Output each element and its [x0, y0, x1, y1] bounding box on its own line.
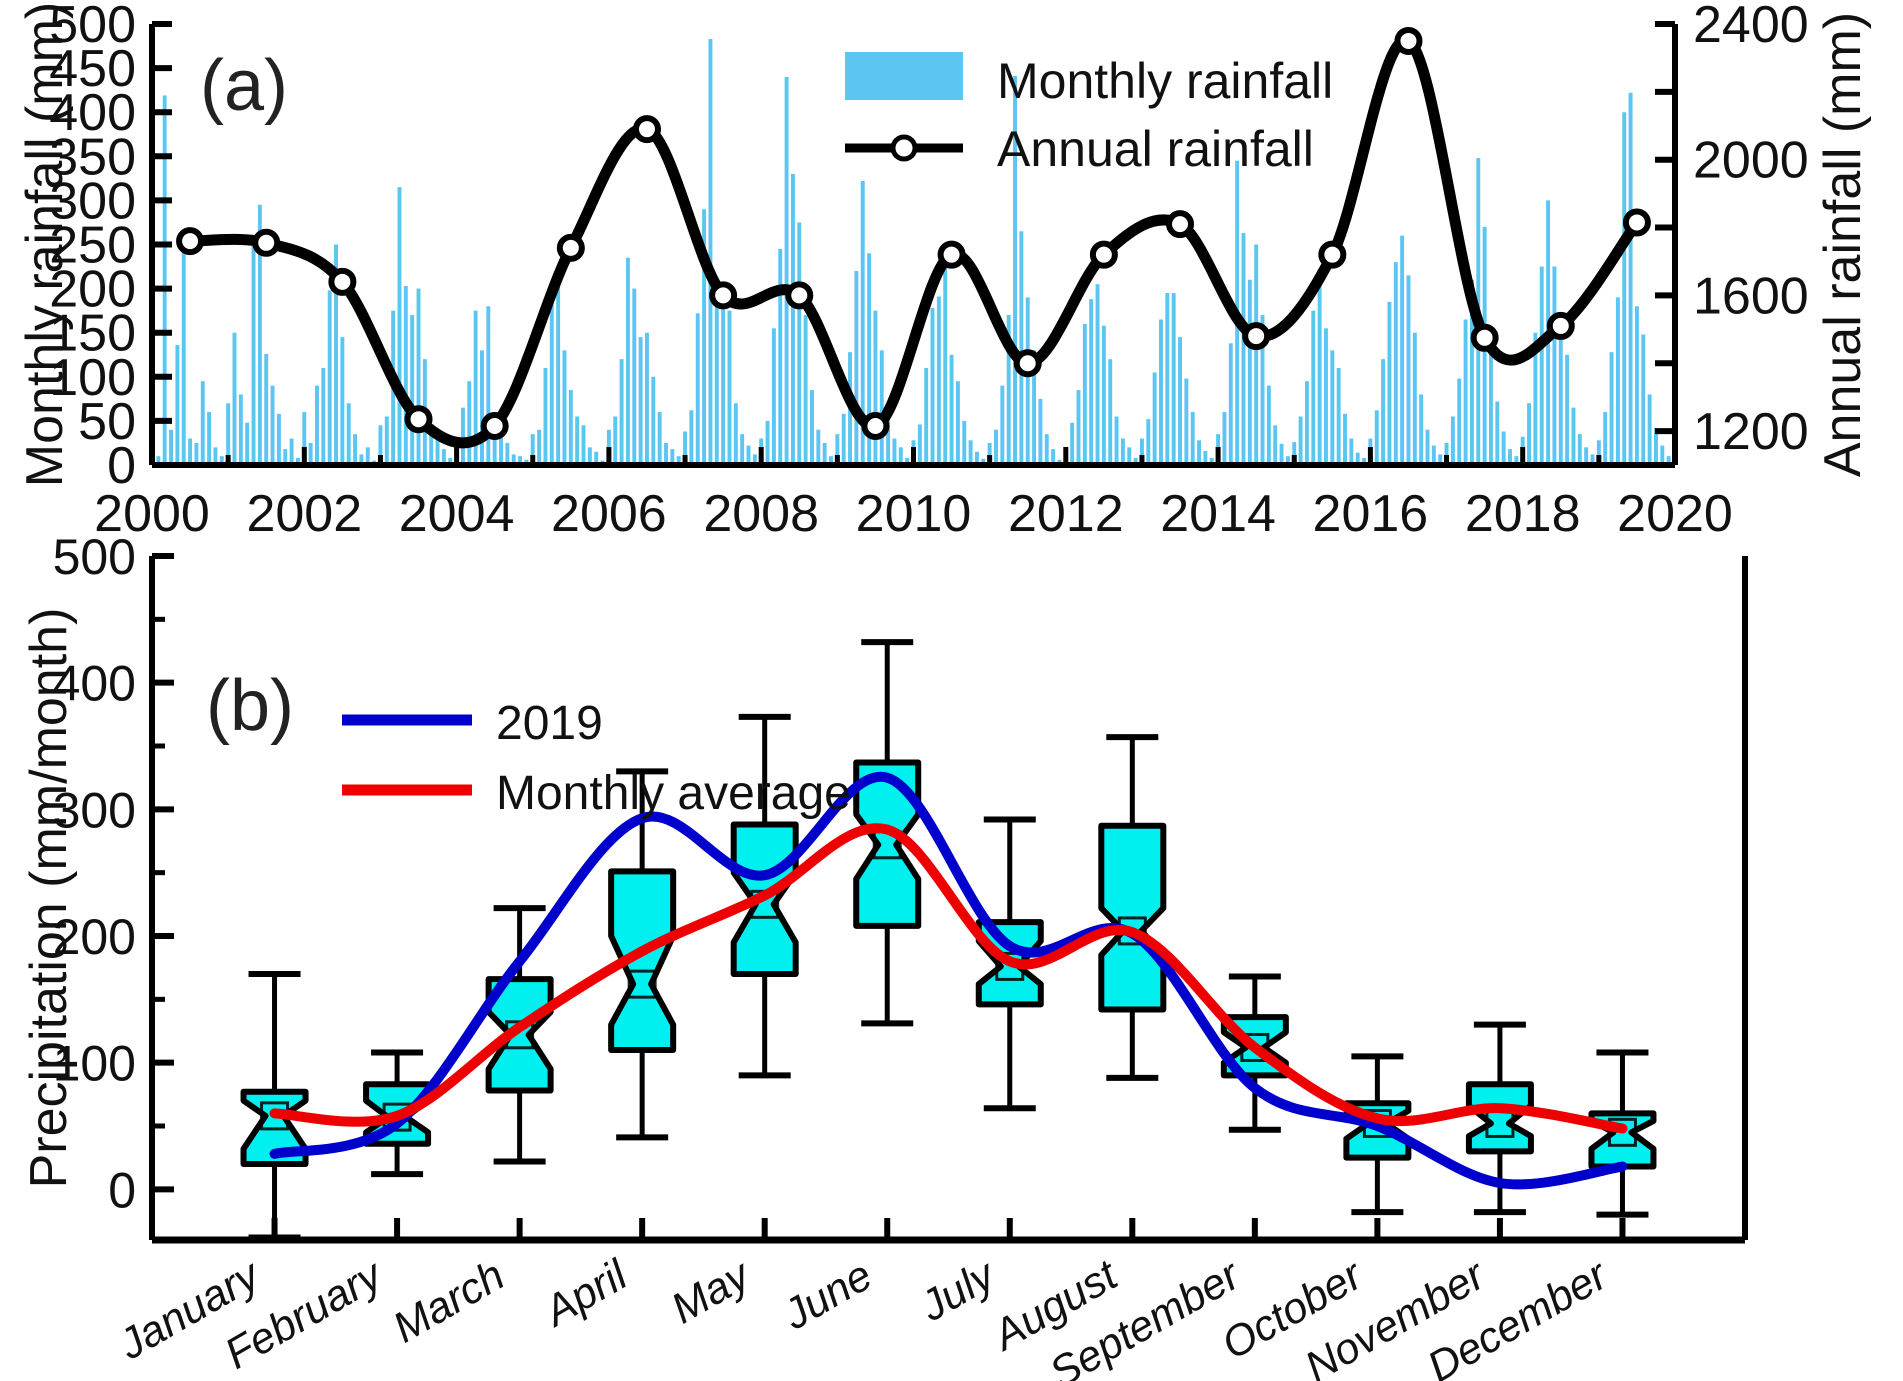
bar	[347, 403, 351, 465]
legend-label-annual-rainfall: Annual rainfall	[997, 121, 1314, 177]
bar	[169, 430, 173, 465]
bar	[417, 289, 421, 465]
panel-a-y2-ticklabel: 2000	[1693, 132, 1809, 190]
bar	[1146, 419, 1150, 465]
bar	[708, 39, 712, 465]
bar	[575, 416, 579, 465]
bar	[1165, 293, 1169, 465]
bar	[188, 439, 192, 465]
bar	[569, 390, 573, 465]
bar	[1280, 444, 1284, 465]
bar	[1184, 379, 1188, 465]
bar	[842, 414, 846, 465]
annual-rainfall-point	[1093, 244, 1115, 266]
bar	[1222, 412, 1226, 465]
bar	[696, 313, 700, 465]
bar	[1248, 280, 1252, 465]
bar	[892, 439, 896, 465]
bar	[1045, 434, 1049, 465]
bar	[1387, 302, 1391, 465]
annual-rainfall-point	[331, 271, 353, 293]
annual-rainfall-point	[1550, 315, 1572, 337]
bar	[810, 390, 814, 465]
panel-a-x-ticklabel: 2008	[703, 485, 819, 543]
bar	[1273, 425, 1277, 465]
bar	[233, 333, 237, 465]
bar	[943, 262, 947, 465]
bar	[1337, 368, 1341, 465]
bar	[353, 434, 357, 465]
bar	[1565, 355, 1569, 465]
bar	[994, 430, 998, 465]
annual-rainfall-point	[1245, 325, 1267, 347]
bar	[436, 439, 440, 465]
bar	[1495, 402, 1499, 466]
bar	[1267, 386, 1271, 465]
bar	[797, 222, 801, 465]
bar	[1552, 267, 1556, 465]
bar	[264, 354, 268, 465]
bar	[873, 311, 877, 465]
annual-rainfall-point	[941, 244, 963, 266]
bar	[1102, 326, 1106, 465]
annual-rainfall-point	[712, 284, 734, 306]
bar	[1108, 359, 1112, 465]
bar	[1426, 430, 1430, 465]
bar	[1000, 386, 1004, 465]
bar	[1299, 416, 1303, 465]
bar	[404, 286, 408, 465]
panel-a-x-ticklabel: 2006	[551, 485, 667, 543]
bar	[1089, 299, 1093, 465]
panel-a-x-ticklabel: 2020	[1617, 485, 1733, 543]
bar	[271, 386, 275, 465]
bar	[804, 315, 808, 465]
bar	[1172, 293, 1176, 465]
bar	[245, 423, 249, 465]
legend-swatch-monthly-rainfall	[845, 52, 963, 100]
annual-rainfall-point	[408, 408, 430, 430]
bar	[277, 414, 281, 465]
bar	[816, 430, 820, 465]
legend-label-monthly-rainfall: Monthly rainfall	[997, 53, 1333, 109]
bar	[201, 381, 205, 465]
bar	[1197, 440, 1201, 465]
bar	[480, 350, 484, 465]
bar	[543, 368, 547, 465]
bar	[582, 425, 586, 465]
bar	[924, 368, 928, 465]
bar	[486, 306, 490, 465]
legend-marker-annual-rainfall	[893, 137, 915, 159]
annual-rainfall-point	[484, 415, 506, 437]
bar	[328, 290, 332, 465]
panel-a-x-ticklabel: 2016	[1313, 485, 1429, 543]
annual-rainfall-point	[179, 230, 201, 252]
bar	[1311, 311, 1315, 465]
bar	[315, 386, 319, 465]
bar	[772, 328, 776, 465]
bar	[1527, 403, 1531, 465]
bar	[207, 412, 211, 465]
bar	[252, 240, 256, 465]
bar	[398, 187, 402, 465]
bar	[537, 430, 541, 465]
legend-label-2019: 2019	[496, 697, 603, 750]
panel-a-left-axis-label: Monthly rainfall (mm)	[16, 2, 74, 487]
bar	[1578, 434, 1582, 465]
bar	[1540, 267, 1544, 465]
annual-rainfall-point	[1474, 327, 1496, 349]
bar	[734, 403, 738, 465]
bar	[1019, 231, 1023, 465]
bar	[1343, 414, 1347, 465]
bar	[1077, 390, 1081, 465]
bar	[728, 311, 732, 465]
bar	[651, 377, 655, 465]
bar	[1115, 416, 1119, 465]
bar	[1407, 275, 1411, 465]
bar	[385, 416, 389, 465]
figure-root: 0501001502002503003504004505001200160020…	[0, 0, 1903, 1381]
bar	[461, 408, 465, 465]
bar	[658, 412, 662, 465]
bar	[505, 443, 509, 465]
legend-label-monthly-average: Monthly average	[496, 767, 851, 820]
bar	[645, 333, 649, 465]
panel-a-tag: (a)	[200, 46, 288, 126]
bar	[1603, 412, 1607, 465]
bar	[182, 249, 186, 465]
bar	[239, 394, 243, 465]
bar	[721, 297, 725, 465]
panel-b-y-ticklabel: 500	[53, 529, 136, 585]
bar	[950, 355, 954, 465]
bar	[1616, 297, 1620, 465]
bar	[1413, 333, 1417, 465]
bar	[1464, 319, 1468, 465]
bar	[1400, 236, 1404, 465]
panel-b-y-ticklabel: 0	[108, 1162, 136, 1218]
bar	[1419, 394, 1423, 465]
panel-a-x-ticklabel: 2010	[856, 485, 972, 543]
panel-a-x-ticklabel: 2012	[1008, 485, 1124, 543]
bar	[962, 421, 966, 465]
annual-rainfall-point	[1397, 30, 1419, 52]
bar	[740, 434, 744, 465]
bar	[632, 289, 636, 465]
bar	[309, 443, 313, 465]
bar	[1394, 262, 1398, 465]
bar	[1457, 379, 1461, 465]
bar	[1026, 297, 1030, 465]
panel-a-right-axis-label: Annual rainfall (mm)	[1814, 12, 1872, 477]
annual-rainfall-point	[1321, 244, 1343, 266]
bar	[1254, 245, 1258, 466]
bar	[290, 439, 294, 465]
panel-a-x-ticklabel: 2018	[1465, 485, 1581, 543]
panel-b-y-axis-label: Precipitation (mm/month)	[20, 608, 78, 1189]
bar	[1375, 410, 1379, 465]
bar	[664, 443, 668, 465]
bar	[969, 440, 973, 465]
bar	[880, 350, 884, 465]
bar	[1096, 284, 1100, 465]
bar	[1648, 394, 1652, 465]
bar	[1502, 431, 1506, 465]
bar	[1191, 412, 1195, 465]
annual-rainfall-point	[864, 415, 886, 437]
bar	[163, 95, 167, 465]
bar	[931, 308, 935, 465]
bar	[823, 443, 827, 465]
bar	[1610, 352, 1614, 465]
bar	[175, 345, 179, 465]
bar	[467, 381, 471, 465]
annual-rainfall-point	[788, 284, 810, 306]
bar	[1229, 343, 1233, 465]
bar	[1324, 328, 1328, 465]
bar	[1159, 319, 1163, 465]
bar	[321, 368, 325, 465]
bar	[1349, 439, 1353, 465]
bar	[556, 284, 560, 465]
bar	[1381, 359, 1385, 465]
panel-a-y2-ticklabel: 2400	[1693, 0, 1809, 54]
bar	[1572, 408, 1576, 465]
bar	[1070, 423, 1074, 465]
bar	[1451, 416, 1455, 465]
bar	[1318, 269, 1322, 465]
annual-rainfall-point	[636, 118, 658, 140]
bar	[626, 258, 630, 465]
annual-rainfall-point	[255, 232, 277, 254]
bar	[1489, 342, 1493, 465]
panel-a-y2-ticklabel: 1600	[1693, 267, 1809, 325]
bar	[778, 249, 782, 465]
panel-a-y2-ticklabel: 1200	[1693, 403, 1809, 461]
annual-rainfall-point	[1626, 211, 1648, 233]
bar	[620, 359, 624, 465]
bar	[1622, 112, 1626, 465]
bar	[689, 410, 693, 465]
bar	[918, 424, 922, 465]
bar	[1121, 439, 1125, 465]
annual-rainfall-point	[1169, 213, 1191, 235]
bar	[563, 350, 567, 465]
bar	[956, 381, 960, 465]
bar	[194, 443, 198, 465]
bar	[1330, 350, 1334, 465]
bar	[1305, 381, 1309, 465]
bar	[550, 289, 554, 465]
bar	[785, 77, 789, 465]
panel-a-x-ticklabel: 2014	[1160, 485, 1276, 543]
bar	[639, 337, 643, 465]
bar	[1178, 337, 1182, 465]
bar	[1635, 306, 1639, 465]
figure-canvas: 0501001502002503003504004505001200160020…	[0, 0, 1903, 1381]
bar	[340, 337, 344, 465]
bar	[937, 297, 941, 465]
bar	[410, 315, 414, 465]
bar	[791, 174, 795, 465]
bar	[766, 421, 770, 465]
bar	[1038, 399, 1042, 465]
bar	[1641, 334, 1645, 465]
bar	[854, 271, 858, 465]
bar	[1629, 93, 1633, 465]
panel-b-tag: (b)	[206, 666, 294, 746]
bar	[613, 416, 617, 465]
annual-rainfall-point	[1017, 352, 1039, 374]
annual-rainfall-point	[560, 237, 582, 259]
bar	[1083, 324, 1087, 465]
panel-a-x-ticklabel: 2002	[246, 485, 362, 543]
bar	[1153, 372, 1157, 465]
bar	[1242, 233, 1246, 465]
panel-a-x-ticklabel: 2004	[399, 485, 515, 543]
